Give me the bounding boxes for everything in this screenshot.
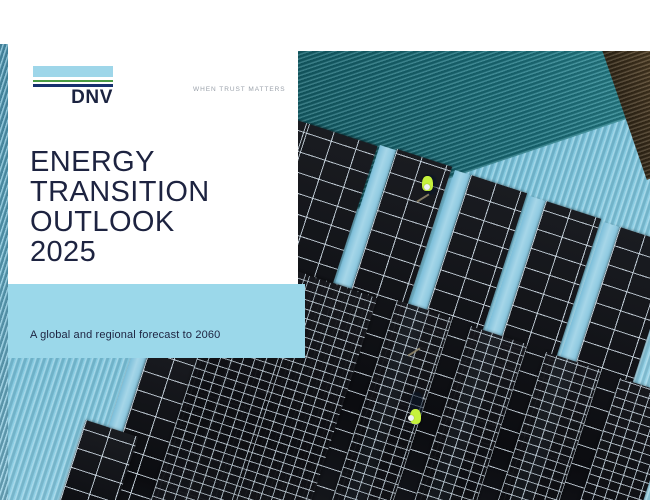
logo-wordmark: DNV [33, 88, 113, 108]
cover-subtitle-band [8, 284, 305, 358]
photo-left-sliver-top-margin [0, 0, 8, 44]
page-subtitle: A global and regional forecast to 2060 [30, 329, 220, 341]
worker-helmet [408, 415, 414, 421]
photo-left-sliver [0, 0, 8, 500]
page-title-line-1: ENERGY [30, 147, 210, 177]
logo-bar-lightblue-icon [33, 66, 113, 77]
report-cover-page: DNV WHEN TRUST MATTERS ENERGY TRANSITION… [0, 0, 650, 500]
page-title: ENERGY TRANSITION OUTLOOK 2025 [30, 147, 210, 267]
page-title-line-4: 2025 [30, 237, 210, 267]
page-title-line-3: OUTLOOK [30, 207, 210, 237]
page-title-line-2: TRANSITION [30, 177, 210, 207]
dnv-logo: DNV [33, 66, 113, 108]
worker-helmet [424, 184, 430, 190]
logo-bar-green-icon [33, 80, 113, 82]
brand-tagline: WHEN TRUST MATTERS [193, 86, 286, 93]
